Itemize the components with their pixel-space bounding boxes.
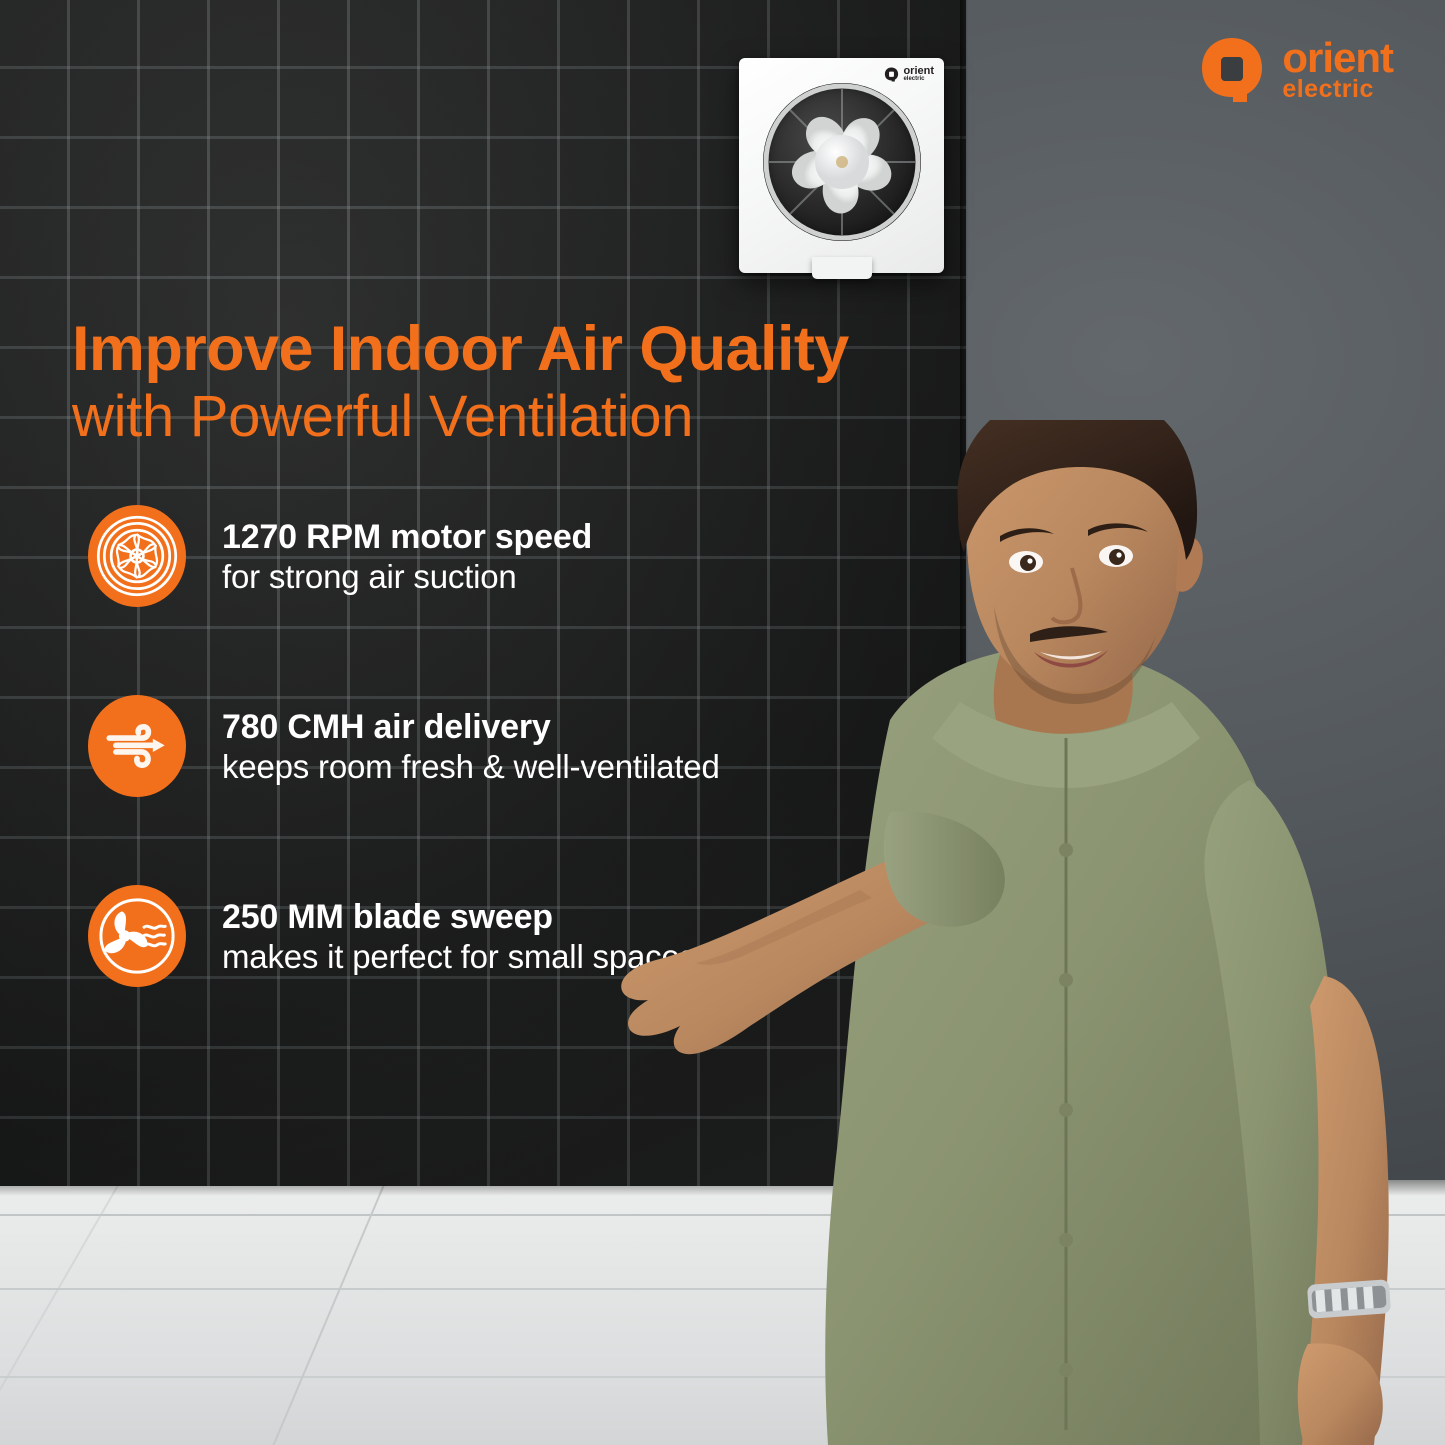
product-brand-badge: orient electric bbox=[884, 67, 934, 82]
wristwatch bbox=[1307, 1279, 1391, 1319]
feature-subtitle: for strong air suction bbox=[222, 557, 592, 597]
product-exhaust-fan-image: orient electric bbox=[739, 58, 944, 273]
orient-q-logo-icon bbox=[1198, 36, 1266, 104]
feature-text: 1270 RPM motor speed for strong air suct… bbox=[222, 515, 592, 597]
brand-logo: orient electric bbox=[1198, 36, 1393, 104]
brand-name-primary: orient bbox=[1282, 39, 1393, 78]
fan-housing bbox=[763, 83, 921, 241]
orient-q-logo-icon-small bbox=[884, 67, 899, 82]
turbine-impeller-icon bbox=[88, 505, 186, 607]
fan-blade-breeze-icon bbox=[88, 885, 186, 987]
brand-logo-text: orient electric bbox=[1282, 39, 1393, 101]
product-badge-secondary: electric bbox=[903, 77, 934, 82]
advertisement-banner: orient electric orient electric bbox=[0, 0, 1445, 1445]
brand-ambassador-photo bbox=[560, 420, 1445, 1445]
feature-title: 1270 RPM motor speed bbox=[222, 517, 592, 557]
headline-line-1: Improve Indoor Air Quality bbox=[72, 318, 942, 381]
brand-name-secondary: electric bbox=[1282, 78, 1393, 101]
fan-base-latch bbox=[812, 257, 872, 279]
airflow-wind-icon bbox=[88, 695, 186, 797]
